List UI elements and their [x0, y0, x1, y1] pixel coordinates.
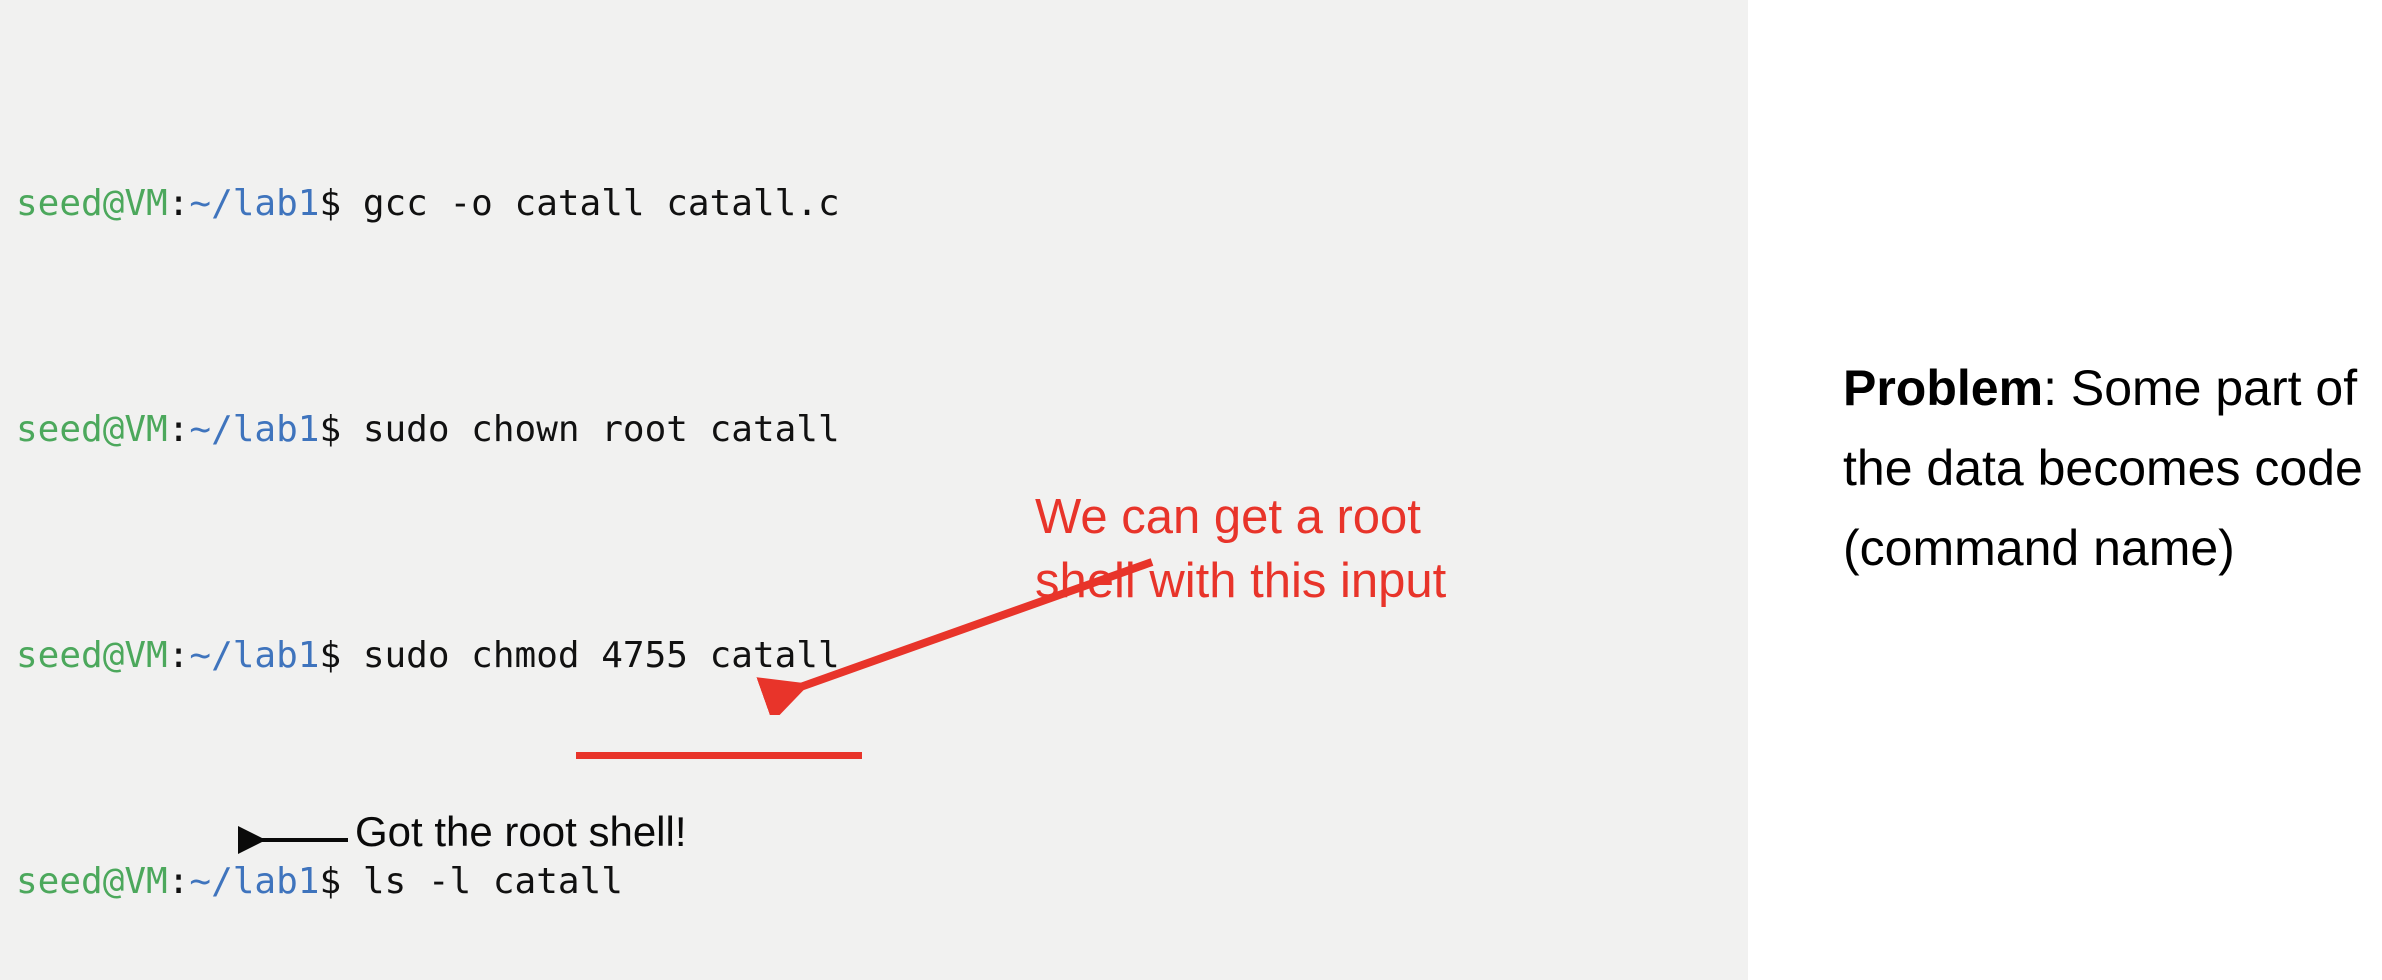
prompt-separator: : [168, 861, 190, 902]
exploit-arg-underline [576, 752, 862, 759]
prompt-symbol: $ [319, 635, 362, 676]
slide-root: seed@VM:~/lab1$ gcc -o catall catall.c s… [0, 0, 2382, 980]
prompt-separator: : [168, 409, 190, 450]
prompt-user: seed@VM [16, 183, 168, 224]
prompt-separator: : [168, 635, 190, 676]
prompt-separator: : [168, 183, 190, 224]
terminal-line-gcc: seed@VM:~/lab1$ gcc -o catall catall.c [16, 176, 1425, 233]
command-text: gcc -o catall catall.c [363, 183, 840, 224]
prompt-path: ~/lab1 [189, 409, 319, 450]
left-arrow-icon [230, 822, 350, 858]
problem-label: Problem [1843, 360, 2043, 416]
prompt-symbol: $ [319, 183, 362, 224]
command-text: sudo chown root catall [363, 409, 840, 450]
terminal-panel: seed@VM:~/lab1$ gcc -o catall catall.c s… [0, 0, 1748, 980]
prompt-path: ~/lab1 [189, 635, 319, 676]
terminal-line-chmod: seed@VM:~/lab1$ sudo chmod 4755 catall [16, 628, 1425, 685]
prompt-user: seed@VM [16, 409, 168, 450]
prompt-user: seed@VM [16, 861, 168, 902]
callout-text: We can get a root shell with this input [1035, 485, 1655, 613]
explanation-panel: Problem: Some part of the data becomes c… [1748, 0, 2382, 980]
prompt-path: ~/lab1 [189, 183, 319, 224]
terminal-line-chown: seed@VM:~/lab1$ sudo chown root catall [16, 402, 1425, 459]
prompt-user: seed@VM [16, 635, 168, 676]
prompt-symbol: $ [319, 409, 362, 450]
problem-statement: Problem: Some part of the data becomes c… [1843, 348, 2373, 588]
root-shell-annotation-label: Got the root shell! [355, 808, 687, 856]
root-shell-annotation: Got the root shell! [230, 812, 750, 870]
